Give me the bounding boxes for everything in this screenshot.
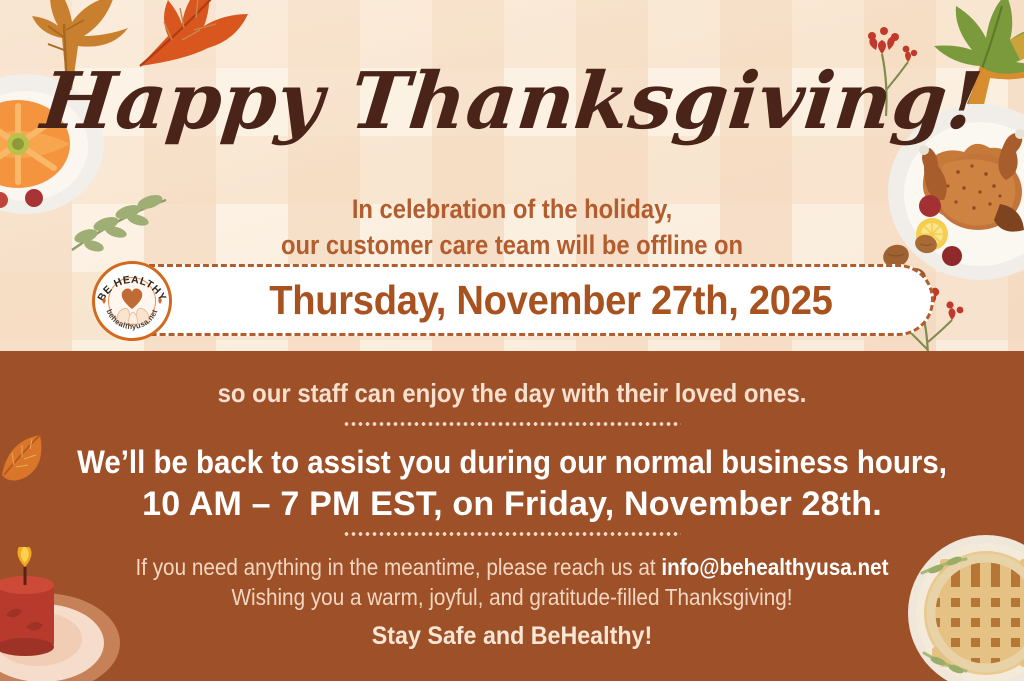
business-hours-block: We’ll be back to assist you during our n… [0,444,1024,524]
offline-date-banner: Thursday, November 27th, 2025 [104,264,934,336]
contact-prefix-text: If you need anything in the meantime, pl… [135,554,661,580]
signoff-line: Stay Safe and BeHealthy! [36,622,988,651]
svg-text:behealthyusa.net: behealthyusa.net [104,308,159,331]
offline-date-text: Thursday, November 27th, 2025 [269,277,832,324]
divider-bottom [343,532,681,536]
return-line-2: 10 AM – 7 PM EST, on Friday, November 28… [0,485,1024,524]
subtitle-block: In celebration of the holiday, our custo… [61,192,962,263]
svg-text:BE HEALTHY: BE HEALTHY [95,274,168,304]
thanksgiving-announcement-banner: Happy Thanksgiving! In celebration of th… [0,0,1024,681]
page-title: Happy Thanksgiving! [0,62,1024,142]
contact-line: If you need anything in the meantime, pl… [51,554,973,581]
behealthy-logo[interactable]: BE HEALTHY behealthyusa.net [92,261,172,341]
wish-line: Wishing you a warm, joyful, and gratitud… [51,584,973,611]
subtitle-line-1: In celebration of the holiday, [61,192,962,228]
return-line-1: We’ll be back to assist you during our n… [41,444,983,481]
contact-email-link[interactable]: info@behealthyusa.net [661,554,888,580]
divider-top [343,422,681,426]
subtitle-line-2: our customer care team will be offline o… [61,228,962,264]
contact-block: If you need anything in the meantime, pl… [0,554,1024,611]
reason-line: so our staff can enjoy the day with thei… [41,378,983,409]
logo-arc-text: BE HEALTHY behealthyusa.net [95,264,169,338]
